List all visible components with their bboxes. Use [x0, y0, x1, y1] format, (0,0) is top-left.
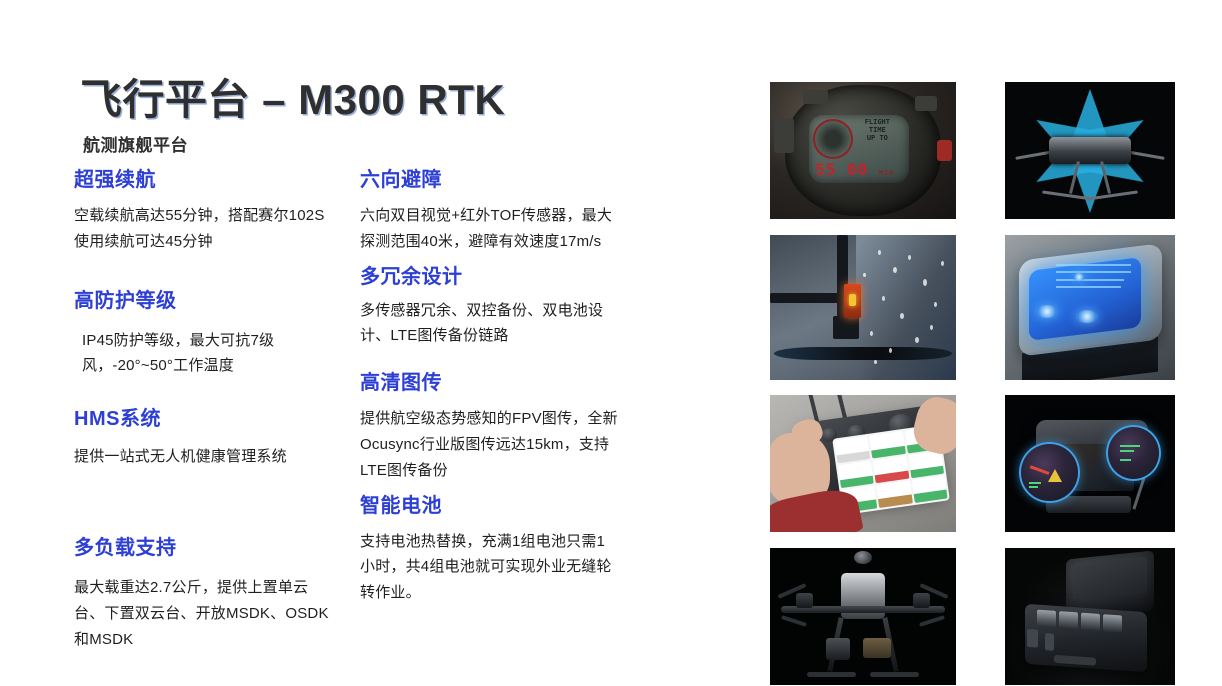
feature-heading: 智能电池: [360, 494, 618, 519]
feature-body: 支持电池热替换，充满1组电池只需1小时，共4组电池就可实现外业无缝轮转作业。: [360, 529, 618, 606]
flight-time-watch-photo: FLIGHT TIME UP TO 55 00 MIN: [770, 82, 956, 219]
feature-item: 六向避障 六向双目视觉+红外TOF传感器，最大探测范围40米，避障有效速度17m…: [360, 168, 618, 255]
slide-canvas: 飞行平台 – M300 RTK 航测旗舰平台 超强续航 空载续航高达55分钟，搭…: [0, 0, 1222, 686]
watch-lcd-value: 55 00: [815, 160, 868, 179]
battery-charging-case-photo: [1005, 548, 1175, 685]
feature-item: 智能电池 支持电池热替换，充满1组电池只需1小时，共4组电池就可实现外业无缝轮转…: [360, 494, 618, 606]
feature-item: 高清图传 提供航空级态势感知的FPV图传，全新Ocusync行业版图传远达15k…: [360, 371, 618, 483]
feature-item: HMS系统 提供一站式无人机健康管理系统: [74, 407, 336, 470]
feature-heading: 高清图传: [360, 371, 618, 396]
feature-body: IP45防护等级，最大可抗7级风，-20°~50°工作温度: [74, 328, 336, 380]
feature-heading: 高防护等级: [74, 289, 336, 314]
m300-multi-payload-photo: [770, 548, 956, 685]
title-block: 飞行平台 – M300 RTK 航测旗舰平台: [80, 78, 505, 156]
feature-heading: 六向避障: [360, 168, 618, 193]
feature-body: 多传感器冗余、双控备份、双电池设计、LTE图传备份链路: [360, 298, 618, 350]
feature-column-middle: 六向避障 六向双目视觉+红外TOF传感器，最大探测范围40米，避障有效速度17m…: [360, 168, 618, 606]
feature-heading: 多冗余设计: [360, 265, 618, 290]
feature-item: 超强续航 空载续航高达55分钟，搭配赛尔102S使用续航可达45分钟: [74, 168, 336, 255]
feature-body: 空载续航高达55分钟，搭配赛尔102S使用续航可达45分钟: [74, 203, 336, 255]
watch-lcd-line2: TIME: [849, 126, 905, 134]
feature-heading: 超强续航: [74, 168, 336, 193]
ip45-rain-protection-photo: [770, 235, 956, 380]
watch-lcd-line3: UP TO: [849, 134, 905, 142]
page-subtitle: 航测旗舰平台: [83, 131, 505, 156]
feature-column-left: 超强续航 空载续航高达55分钟，搭配赛尔102S使用续航可达45分钟 高防护等级…: [74, 168, 336, 652]
feature-body: 提供一站式无人机健康管理系统: [74, 444, 336, 470]
feature-heading: 多负载支持: [74, 536, 336, 561]
feature-body: 六向双目视觉+红外TOF传感器，最大探测范围40米，避障有效速度17m/s: [360, 203, 618, 255]
feature-body: 提供航空级态势感知的FPV图传，全新Ocusync行业版图传远达15km，支持L…: [360, 406, 618, 483]
feature-body: 最大载重达2.7公斤，提供上置单云台、下置双云台、开放MSDK、OSDK和MSD…: [74, 575, 336, 652]
feature-item: 高防护等级 IP45防护等级，最大可抗7级风，-20°~50°工作温度: [74, 289, 336, 380]
fpv-transmission-controller-photo: [1005, 395, 1175, 532]
watch-lcd-line1: FLIGHT: [849, 118, 905, 126]
redundant-systems-xray-photo: [1005, 235, 1175, 380]
photo-grid: FLIGHT TIME UP TO 55 00 MIN: [768, 80, 1188, 680]
feature-item: 多负载支持 最大载重达2.7公斤，提供上置单云台、下置双云台、开放MSDK、OS…: [74, 536, 336, 652]
hms-smart-controller-photo: [770, 395, 956, 532]
watch-lcd-unit: MIN: [879, 169, 895, 177]
six-direction-obstacle-sensing-photo: [1005, 82, 1175, 219]
feature-heading: HMS系统: [74, 407, 336, 432]
page-title: 飞行平台 – M300 RTK: [80, 78, 505, 122]
feature-item: 多冗余设计 多传感器冗余、双控备份、双电池设计、LTE图传备份链路: [360, 265, 618, 350]
